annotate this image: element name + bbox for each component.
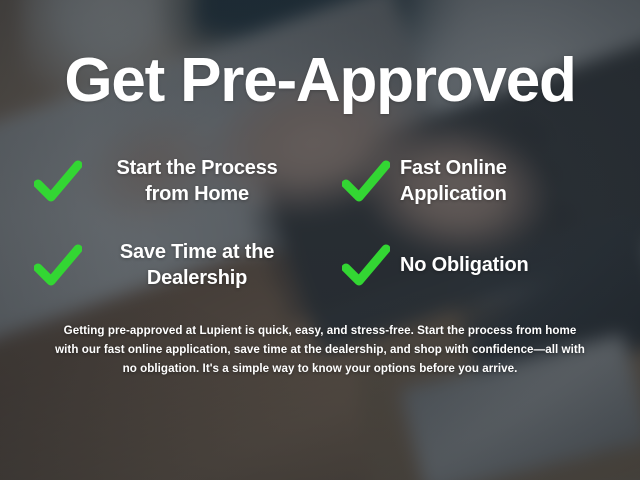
benefit-label: Start the Processfrom Home (92, 156, 302, 207)
benefit-label: Save Time at theDealership (92, 240, 302, 291)
check-icon (342, 160, 390, 204)
description-paragraph: Getting pre-approved at Lupient is quick… (55, 322, 585, 378)
page-title: Get Pre-Approved (64, 50, 575, 112)
check-icon (342, 244, 390, 288)
check-icon (34, 160, 82, 204)
benefits-grid: Start the Processfrom Home Fast OnlineAp… (20, 140, 620, 308)
banner-content: Get Pre-Approved Start the Processfrom H… (0, 0, 640, 480)
benefit-item-start-the-process: Start the Processfrom Home (20, 140, 320, 224)
benefit-item-no-obligation: No Obligation (320, 224, 620, 308)
pre-approved-banner: Get Pre-Approved Start the Processfrom H… (0, 0, 640, 480)
check-icon (34, 244, 82, 288)
benefit-label: No Obligation (400, 253, 529, 279)
benefit-item-fast-online-application: Fast OnlineApplication (320, 140, 620, 224)
benefit-item-save-time-at-the-dealership: Save Time at theDealership (20, 224, 320, 308)
benefit-label: Fast OnlineApplication (400, 156, 507, 207)
